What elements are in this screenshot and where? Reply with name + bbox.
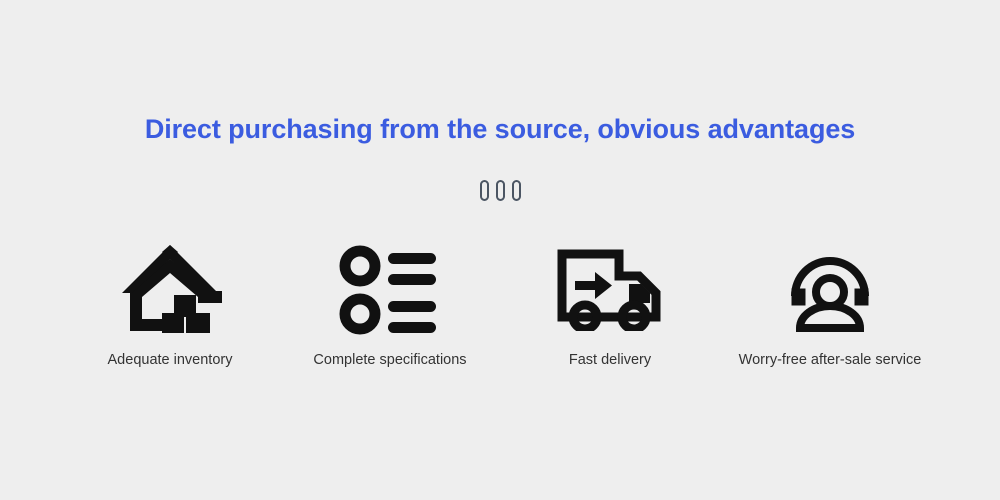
three-pill-divider bbox=[0, 180, 1000, 201]
feature-item-inventory: Adequate inventory bbox=[60, 240, 280, 368]
feature-item-specifications: Complete specifications bbox=[280, 240, 500, 368]
specification-list-icon bbox=[338, 240, 442, 340]
feature-list: Adequate inventory Complete specific bbox=[60, 240, 940, 368]
feature-item-after-sale: Worry-free after-sale service bbox=[720, 240, 940, 368]
feature-label: Fast delivery bbox=[569, 352, 651, 368]
divider-pill-icon bbox=[512, 180, 521, 201]
divider-pill-icon bbox=[496, 180, 505, 201]
page-title: Direct purchasing from the source, obvio… bbox=[0, 114, 1000, 145]
feature-label: Complete specifications bbox=[313, 352, 466, 368]
delivery-truck-arrow-icon bbox=[557, 240, 663, 340]
feature-label: Worry-free after-sale service bbox=[739, 352, 922, 368]
warehouse-house-boxes-icon bbox=[118, 240, 222, 340]
divider-pill-icon bbox=[480, 180, 489, 201]
feature-item-delivery: Fast delivery bbox=[500, 240, 720, 368]
feature-label: Adequate inventory bbox=[108, 352, 233, 368]
headset-customer-service-icon bbox=[789, 240, 871, 340]
promo-banner: Direct purchasing from the source, obvio… bbox=[0, 0, 1000, 500]
